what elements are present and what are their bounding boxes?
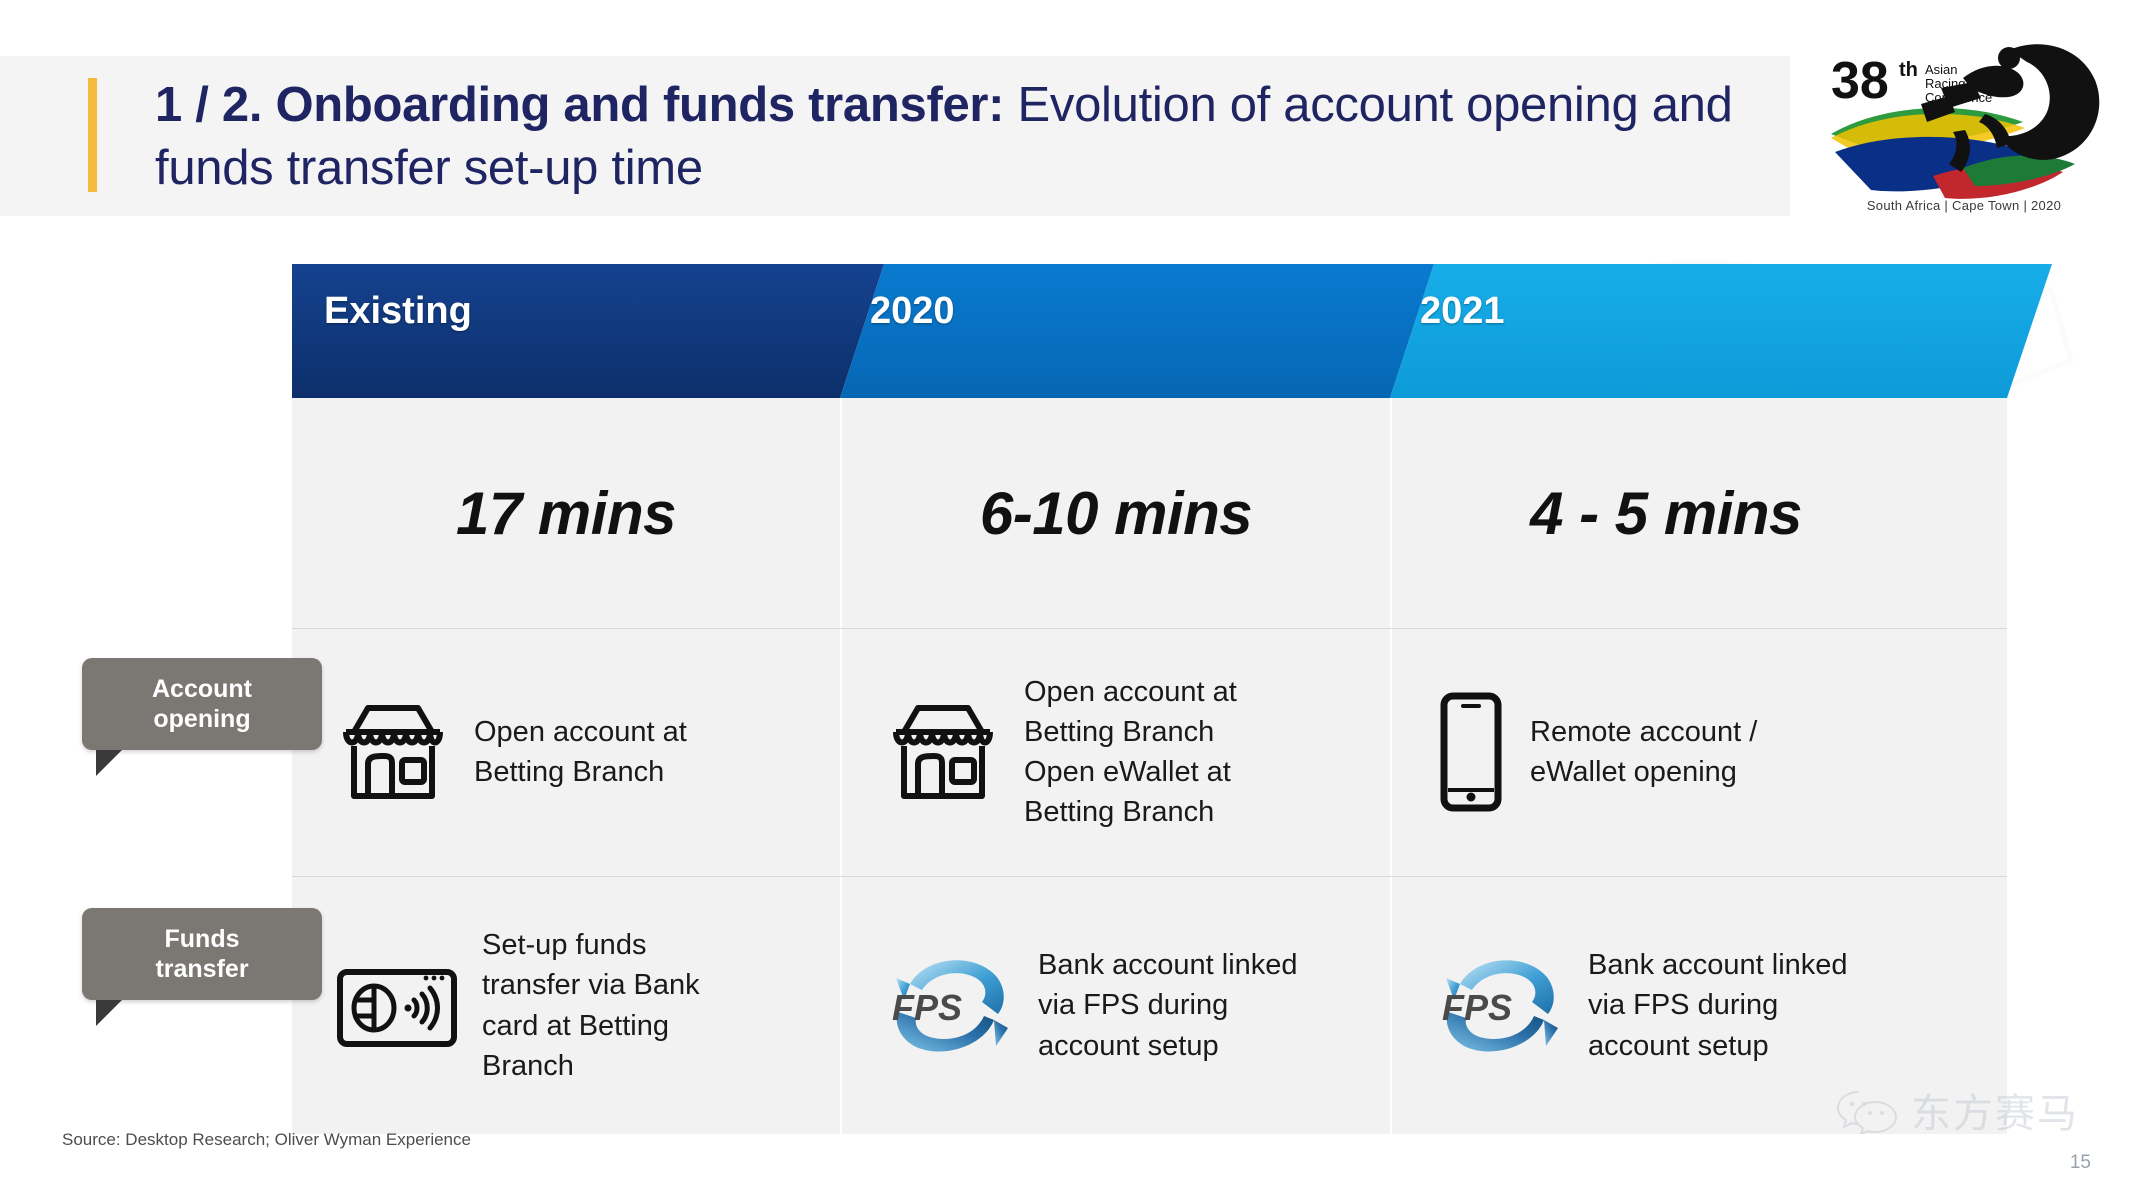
wechat-icon (1835, 1086, 1899, 1134)
cell-funds-transfer-2020: FPS Bank account linked via FPS during a… (842, 877, 1390, 1134)
value-existing: 17 mins (456, 479, 676, 548)
logo-line1: Asian (1925, 62, 1958, 77)
storefront-icon (884, 698, 1002, 806)
cell-text: Remote account / eWallet opening (1530, 712, 1757, 792)
contactless-card-icon (334, 958, 460, 1054)
value-cell-2021: 4 - 5 mins (1392, 398, 1940, 628)
cell-text: Bank account linked via FPS during accou… (1588, 945, 1848, 1065)
value-2020: 6-10 mins (980, 479, 1252, 548)
value-cell-2020: 6-10 mins (842, 398, 1390, 628)
fps-logo-icon: FPS (884, 950, 1016, 1062)
cell-account-opening-2021: Remote account / eWallet opening (1392, 628, 1940, 876)
cell-funds-transfer-existing: Set-up funds transfer via Bank card at B… (292, 877, 840, 1134)
logo-ordinal-number: 38 (1831, 52, 1889, 110)
value-2021: 4 - 5 mins (1530, 479, 1802, 548)
cell-text: Open account at Betting Branch (474, 712, 687, 792)
column-header-band (292, 264, 2052, 398)
svg-text:FPS: FPS (1442, 987, 1512, 1028)
page-number: 15 (2070, 1152, 2091, 1174)
source-note: Source: Desktop Research; Oliver Wyman E… (62, 1130, 471, 1150)
row-label-account-opening: Account opening (82, 658, 322, 750)
logo-caption: South Africa | Cape Town | 2020 (1819, 198, 2109, 213)
cell-text: Set-up funds transfer via Bank card at B… (482, 925, 700, 1085)
cell-text: Bank account linked via FPS during accou… (1038, 945, 1298, 1065)
page-title-strong: 1 / 2. Onboarding and funds transfer: (155, 78, 1004, 132)
column-header-2020-label: 2020 (870, 290, 955, 333)
smartphone-icon (1434, 692, 1508, 812)
row-label-funds-transfer: Funds transfer (82, 908, 322, 1000)
wechat-account-name: 东方赛马 (1911, 1081, 2079, 1139)
table-body: 17 mins 6-10 mins 4 - 5 mins (292, 398, 2007, 1134)
page-title: 1 / 2. Onboarding and funds transfer: Ev… (155, 74, 1755, 199)
column-header-2021-label: 2021 (1420, 290, 1505, 333)
comparison-table: Existing 2020 2021 17 mins 6-10 mins 4 -… (292, 264, 2052, 1134)
asian-racing-conference-logo: 38 th Asian Racing Conference (1813, 26, 2113, 216)
logo-line3: Conference (1925, 90, 1992, 105)
cell-account-opening-existing: Open account at Betting Branch (292, 628, 840, 876)
fps-logo-icon: FPS (1434, 950, 1566, 1062)
wechat-watermark: 东方赛马 (1835, 1082, 2079, 1138)
logo-ordinal-suffix: th (1899, 59, 1918, 81)
storefront-icon (334, 698, 452, 806)
svg-text:FPS: FPS (892, 987, 962, 1028)
value-cell-existing: 17 mins (292, 398, 840, 628)
logo-line2: Racing (1925, 76, 1965, 91)
cell-text: Open account at Betting Branch Open eWal… (1024, 672, 1237, 832)
cell-account-opening-2020: Open account at Betting Branch Open eWal… (842, 628, 1390, 876)
column-header-existing-label: Existing (324, 290, 472, 333)
title-accent-bar (88, 78, 97, 192)
